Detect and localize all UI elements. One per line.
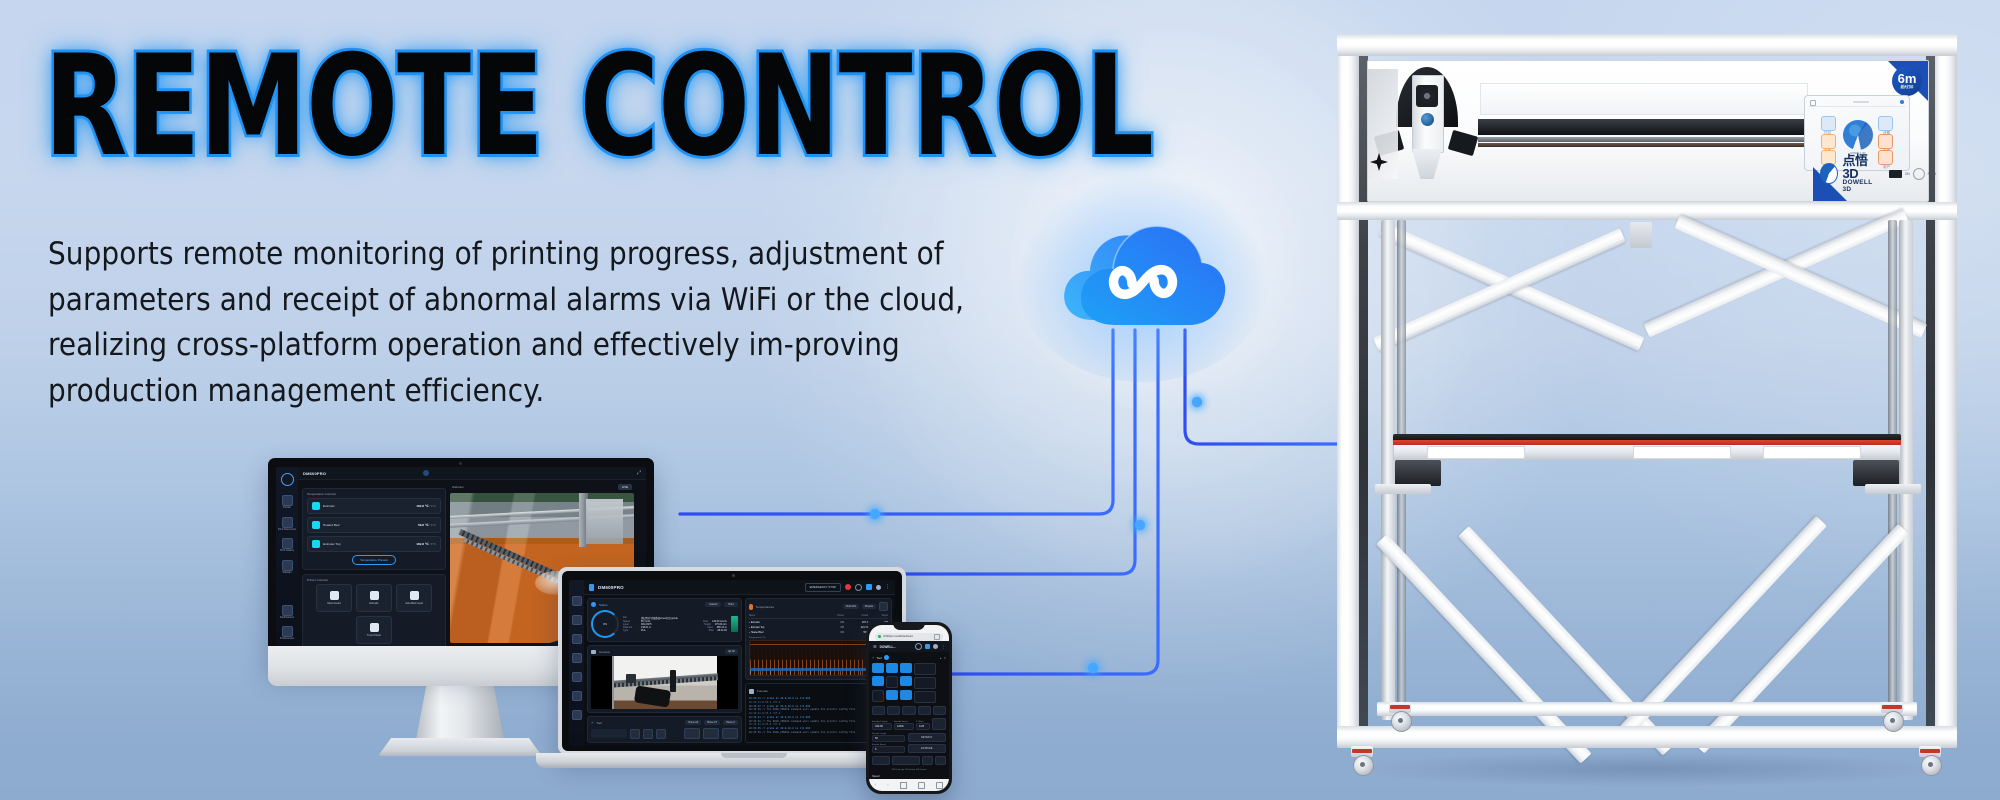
phone-url: dm600pro.local/#/dashboard (883, 635, 913, 638)
auto-level-button[interactable]: Auto Bed Level (396, 584, 432, 612)
gear-icon (282, 626, 293, 637)
printer-post-right (1935, 34, 1957, 746)
tool-icon: ⚡ (591, 721, 593, 725)
temp-row-name: Heated Bed (323, 523, 339, 527)
monitor-stand-neck (416, 684, 504, 740)
tools-icon[interactable] (1821, 134, 1836, 149)
col-header-actual: Actual (844, 614, 868, 617)
link-node-desktop (870, 509, 880, 519)
temp-row-value: 59.6 ℃ (418, 523, 429, 527)
power-switch-label: ON (1905, 172, 1910, 176)
printer-caster-right (1917, 746, 1943, 776)
field-label: Total (708, 629, 713, 632)
printer-caster-inner-right (1879, 702, 1905, 732)
link-node-mid (1135, 520, 1145, 530)
status-dot-icon (884, 655, 889, 660)
extruder-top-icon (312, 540, 320, 548)
tool-card-title: Tool (596, 721, 602, 725)
printer-post-left (1337, 34, 1359, 746)
desktop-window-title: DM600PRO (303, 471, 326, 476)
webcam-title: Webcam (452, 485, 464, 489)
bell-icon (282, 605, 293, 616)
document-icon (282, 517, 293, 528)
extrude-label: Extrude (370, 602, 379, 605)
phone-screen: dm600pro.local/#/dashboard ☰ DOWELL... ⋮ (869, 625, 949, 791)
temp-row-value: 182.8 ℃ (416, 504, 428, 508)
sidebar-item-notifications-label: Notifications (280, 617, 294, 620)
heightmap-icon[interactable] (572, 634, 582, 644)
progress-ring: 0% (591, 610, 619, 638)
filament-indicator (731, 616, 738, 632)
phone-notch (893, 622, 925, 630)
step-10-button[interactable] (902, 706, 915, 715)
home-all-button[interactable]: Home All (685, 720, 701, 725)
extruder-position-field[interactable]: 330.00 (872, 723, 892, 730)
temp-power: 0% (828, 626, 844, 629)
field-value: PLA (641, 629, 646, 632)
user-icon[interactable] (876, 585, 881, 590)
quick-btn-3[interactable] (922, 756, 933, 765)
gear-icon[interactable] (572, 710, 582, 720)
printer-brace-bottom-2 (1693, 524, 1909, 754)
reset-button[interactable] (1913, 168, 1925, 180)
sidebar-item-printer-label: Printer (283, 507, 291, 510)
emergency-stop-button[interactable]: EMERGENCY STOP (805, 583, 841, 592)
laptop-window-title: DM600PRO (598, 585, 624, 590)
home-z-button[interactable]: Home Z (723, 720, 738, 725)
laptop-screen: DM600PRO EMERGENCY STOP ⋮ (562, 571, 902, 751)
temperature-presets-button[interactable]: Temperature Presets (352, 555, 396, 565)
tool-card: ⚡ Tool Home All Home XY Home Z (587, 716, 742, 743)
app-logo-icon (281, 473, 294, 486)
temperatures-title: Temperatures (756, 605, 774, 609)
extrude-factor-field[interactable]: 100% (894, 723, 914, 730)
temp-row-name: Extruder Top (323, 542, 340, 546)
print-icon[interactable] (1821, 116, 1836, 131)
step-100-button[interactable] (933, 706, 946, 715)
printer-top-beam (1337, 34, 1957, 56)
speed-label: Speed (872, 775, 880, 778)
table-row[interactable]: Extruder Top 182.8 ℃ / 0 ℃ (307, 536, 441, 552)
extrude-length-field[interactable]: 50 (872, 735, 905, 742)
cancel-button[interactable]: Cancel (705, 602, 721, 607)
printer-lower-beam (1377, 702, 1917, 716)
app-logo-icon (589, 584, 594, 591)
printer-base-beam (1337, 726, 1957, 748)
titlebar-status-icon (423, 470, 429, 476)
col-header-target: Target (868, 614, 888, 617)
tool-icon: ⚡ (872, 656, 874, 660)
link-node-printer (1192, 397, 1202, 407)
camera-feed[interactable] (591, 656, 738, 709)
level-icon (410, 591, 419, 600)
tabs-icon[interactable] (936, 782, 943, 789)
laptop-sidebar[interactable] (569, 580, 584, 746)
jog-home-button[interactable] (886, 676, 898, 688)
laptop-base-notch (721, 753, 787, 758)
move-head-label: Move Head (327, 602, 340, 605)
printer-caster-left (1349, 746, 1375, 776)
chart-toggle-button[interactable]: Chart ON (843, 604, 859, 609)
presets-button[interactable]: Presets (862, 604, 876, 609)
dashboard-icon[interactable] (572, 596, 582, 606)
col-header-name: Name (749, 614, 828, 617)
notification-icon[interactable] (866, 584, 872, 590)
progress-value: 0% (603, 623, 607, 626)
laptop-lid: DM600PRO EMERGENCY STOP ⋮ (558, 567, 906, 755)
temp-row-target: / 0 ℃ (430, 505, 436, 508)
laptop-device: DM600PRO EMERGENCY STOP ⋮ (558, 567, 906, 773)
jog-right-button[interactable] (900, 676, 912, 686)
history-icon[interactable] (572, 691, 582, 701)
printer-bed-flange-left (1375, 484, 1431, 494)
link-node-phone (1088, 663, 1098, 673)
expand-icon[interactable]: ⤢ (637, 470, 641, 476)
brand-name-en: DOWELL 3D (1843, 180, 1876, 193)
extrude-button[interactable]: Extrude (356, 584, 392, 612)
files-icon[interactable] (1878, 134, 1893, 149)
status-card: Status Cancel Print 0% (587, 598, 742, 642)
temp-actual: 216.74 (844, 626, 868, 629)
user-icon[interactable] (933, 644, 938, 649)
jog-up-right-button[interactable] (900, 663, 912, 673)
phone-browser-toolbar[interactable]: ‹ › (869, 779, 949, 791)
chart-axis-label: Temperature [°C] (749, 637, 766, 639)
machine-icon[interactable] (572, 672, 582, 682)
step-0-1-button[interactable] (872, 706, 885, 715)
camera-icon (591, 650, 596, 654)
temp-power: 0% (828, 621, 844, 624)
jog-down-left-button[interactable] (872, 690, 884, 702)
files-icon[interactable] (572, 615, 582, 625)
sidebar-item-notifications[interactable]: Notifications (278, 605, 296, 620)
laptop-topbar: DM600PRO EMERGENCY STOP ⋮ (584, 580, 895, 595)
tune-icon (370, 623, 379, 632)
sidebar-item-print-history[interactable]: Print History (278, 538, 296, 553)
banner-stage: REMOTE CONTROL Supports remote monitorin… (0, 0, 2000, 800)
settings-icon[interactable] (1878, 116, 1893, 131)
power-switch[interactable] (1889, 170, 1902, 178)
print-button[interactable]: Print (724, 602, 737, 607)
phone-device: dm600pro.local/#/dashboard ☰ DOWELL... ⋮ (866, 622, 952, 794)
sidebar-item-preferences[interactable]: Preferences (278, 626, 296, 641)
sidebar-item-printer[interactable]: Printer (278, 495, 296, 510)
power-icon[interactable] (845, 584, 851, 590)
printer-controls-title: Printer Controls (303, 575, 445, 584)
temp-row-target: / 0 ℃ (430, 524, 436, 527)
more-icon[interactable] (879, 602, 888, 611)
temp-name: Extruder Top (751, 626, 765, 629)
monitor-stand-foot (378, 738, 542, 756)
z-home-button[interactable] (914, 677, 936, 689)
temp-row-value: 182.8 ℃ (416, 542, 428, 546)
quick-btn-2[interactable] (892, 756, 920, 765)
laptop-camera-icon (732, 574, 735, 577)
extrude-speed-field[interactable]: 5 (872, 746, 905, 753)
tune-printer-button[interactable]: Tune Printer (356, 616, 392, 644)
jog-left-button[interactable] (872, 676, 884, 686)
temperature-controls-title: Temperature Controls (303, 489, 445, 498)
reload-icon[interactable] (934, 634, 940, 640)
sidebar-item-print-document[interactable]: Print Document (278, 517, 296, 532)
temp-actual: 55.9 (844, 631, 868, 634)
table-row[interactable]: Heated Bed 59.6 ℃ / 0 ℃ (307, 517, 441, 533)
jog-up-left-button[interactable] (872, 663, 884, 673)
temp-name: Heated Bed (751, 631, 764, 634)
printer-3d-illustration: 6m 超大打印 DOWELL 3D 打印 工具 温度 (1337, 34, 1957, 774)
console-icon (749, 689, 754, 694)
monitor-camera-icon (459, 462, 462, 465)
printer-gantry-housing: 6m 超大打印 DOWELL 3D 打印 工具 温度 (1367, 60, 1929, 202)
history-icon (282, 538, 293, 549)
tune-printer-label: Tune Printer (367, 634, 381, 637)
temp-power: 0% (828, 631, 844, 634)
printer-controls-card: Printer Controls Move Head E (302, 574, 446, 647)
phone-app-title: DOWELL... (880, 645, 896, 649)
z-offset-field[interactable]: 0.25 (916, 723, 930, 730)
quick-btn-1[interactable] (872, 756, 890, 765)
link-cloud-to-phone (952, 330, 1158, 674)
printer-icon (282, 495, 293, 506)
z-down-button[interactable] (914, 691, 936, 703)
temp-row-name: Extruder (323, 504, 335, 508)
thermometer-icon (749, 604, 753, 610)
settings-icon[interactable] (932, 718, 946, 730)
temperature-controls-card: Temperature Controls Extruder 182.8 ℃ / … (302, 488, 446, 570)
notification-icon[interactable] (925, 644, 930, 649)
printer-brand: 点悟3D DOWELL 3D ON Reset (1820, 154, 1936, 193)
extrude-button[interactable]: EXTRUDE (908, 744, 947, 753)
move-icon (330, 591, 339, 600)
field-label: Type (623, 629, 637, 632)
dowell-logo-icon (1820, 163, 1838, 184)
status-card-title: Status (599, 603, 608, 607)
home-xy-button[interactable]: Home XY (704, 720, 720, 725)
extrude-icon (370, 591, 379, 600)
jog-down-right-button[interactable] (900, 690, 912, 700)
heated-bed-icon (312, 521, 320, 529)
printer-inner-rail-right (1899, 220, 1913, 720)
phone-tool-title: Tool (876, 656, 882, 660)
camera-card-title: Camera (599, 650, 610, 654)
move-head-button[interactable]: Move Head (316, 584, 352, 612)
size-badge: 6m 超大打印 (1892, 66, 1922, 96)
sidebar-item-preferences-label: Preferences (280, 638, 294, 641)
jog-up-button[interactable] (886, 663, 898, 673)
cloud-icon-group[interactable] (1055, 212, 1230, 342)
sidebar-item-print-document-label: Print Document (278, 529, 296, 532)
share-icon[interactable] (900, 782, 907, 789)
printer-inner-rail-left (1381, 220, 1395, 720)
field-value: 08:21:00 (717, 629, 726, 632)
printer-bed-flange-right (1865, 484, 1921, 494)
col-header-power: Power (828, 614, 844, 617)
status-badge: LIVE (618, 484, 632, 490)
z-up-button[interactable] (914, 663, 936, 675)
printer-bed-mount-right (1853, 460, 1899, 486)
temp-row-target: / 0 ℃ (430, 543, 436, 546)
printer-shadow (1357, 752, 1937, 786)
step-1-button[interactable] (887, 706, 900, 715)
console-title: Console (757, 689, 768, 693)
auto-level-label: Auto Bed Level (405, 602, 423, 605)
sidebar-item-statistic-label: Statistic (282, 572, 291, 575)
cloud-infinity-icon (1055, 212, 1230, 342)
sidebar-item-print-history-label: Print History (280, 550, 294, 553)
jog-down-button[interactable] (886, 690, 898, 700)
touchscreen-statusbar (1809, 99, 1905, 107)
lock-icon (878, 635, 881, 638)
sidebar-item-statistic[interactable]: Statistic (278, 560, 296, 575)
refresh-icon[interactable] (855, 584, 862, 591)
temp-actual: 207.4 (844, 621, 868, 624)
phone-app-header: ☰ DOWELL... ⋮ (869, 641, 949, 652)
step-50-button[interactable] (918, 706, 931, 715)
bookmarks-icon[interactable] (918, 782, 925, 789)
chart-icon (282, 560, 293, 571)
printer-brace-joint-top (1630, 222, 1652, 248)
printer-caster-inner-left (1387, 702, 1413, 732)
brand-name-cn: 点悟3D (1843, 154, 1876, 180)
desktop-titlebar: DM600PRO ⤢ (298, 467, 646, 480)
phone-footer-note: 1/10.0 mm go 10 Position 100.0 mm/s (872, 769, 946, 771)
desktop-sidebar[interactable]: Printer Print Document Print History (276, 467, 298, 647)
quick-btn-4[interactable] (935, 756, 946, 765)
tune-icon[interactable] (572, 653, 582, 663)
phone-shell: dm600pro.local/#/dashboard ☰ DOWELL... ⋮ (866, 622, 952, 794)
table-row[interactable]: Extruder 182.8 ℃ / 0 ℃ (307, 498, 441, 514)
camera-card: Camera fps 30 (587, 645, 742, 713)
retract-button[interactable]: RETRACT (908, 733, 947, 742)
power-icon[interactable] (915, 643, 922, 650)
extruder-icon (312, 502, 320, 510)
status-icon (591, 602, 596, 607)
link-cloud-to-desktop (680, 330, 1113, 514)
printer-build-plate (1393, 434, 1901, 460)
printer-mid-beam (1337, 202, 1957, 220)
camera-fps-badge: fps 30 (725, 649, 738, 654)
reset-button-label: Reset (1928, 172, 1936, 176)
printer-bed-mount-left (1395, 460, 1441, 486)
temp-name: Extruder (751, 621, 760, 624)
